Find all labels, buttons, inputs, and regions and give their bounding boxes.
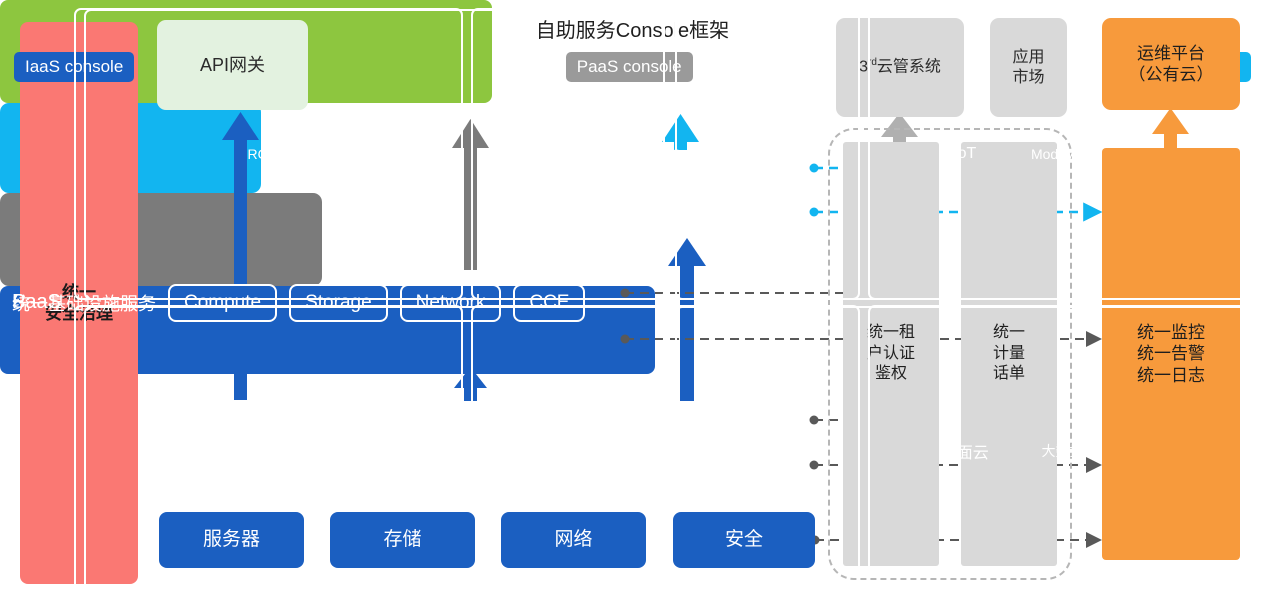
infrastructure-layer-panel: 统一基础设施服务 Compute Storage Network CCE — [0, 286, 655, 374]
hardware-storage-box[interactable]: 存储 — [330, 512, 475, 568]
iaas-chip-network[interactable]: Network — [400, 284, 502, 322]
iaas-chip-storage[interactable]: Storage — [289, 284, 388, 322]
hardware-network-box[interactable]: 网络 — [501, 512, 646, 568]
hardware-server-box[interactable]: 服务器 — [159, 512, 304, 568]
hardware-security-box[interactable]: 安全 — [673, 512, 815, 568]
architecture-diagram-canvas: 统一租 户认证 鉴权 统一 计量 话单 统一 安全治理 API网关 自助服务Co… — [0, 0, 1265, 605]
iaas-chip-compute[interactable]: Compute — [168, 284, 277, 322]
iaas-chip-cce[interactable]: CCE — [513, 284, 585, 322]
infrastructure-label: 统一基础设施服务 — [12, 290, 156, 316]
